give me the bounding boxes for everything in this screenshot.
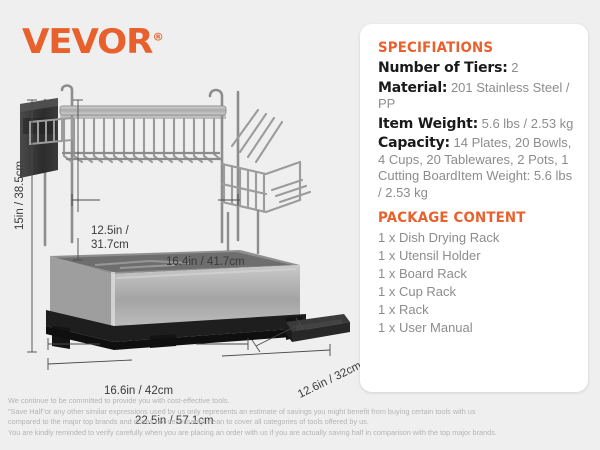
- package-item: 1 x Board Rack: [378, 265, 574, 283]
- spec-row-capacity: Capacity: 14 Plates, 20 Bowls, 4 Cups, 2…: [378, 135, 574, 201]
- package-content-heading: PACKAGE CONTENT: [378, 210, 558, 226]
- product-illustration: 15in / 38.5cm 12.5in / 31.7cm 16.4in / 4…: [0, 60, 350, 390]
- vevor-logo: VEVOR®: [22, 22, 163, 62]
- product-spec-image: VEVOR®: [0, 0, 600, 450]
- specifications-heading: SPECIFIATIONS: [378, 40, 558, 56]
- spec-value: 2: [511, 60, 518, 75]
- spec-row-material: Material: 201 Stainless Steel / PP: [378, 80, 574, 113]
- spec-value: 5.6 lbs / 2.53 kg: [482, 116, 574, 131]
- spec-row-item-weight: Item Weight: 5.6 lbs / 2.53 kg: [378, 116, 574, 133]
- brand-name: VEVOR: [22, 22, 152, 62]
- disclaimer-line: "Save Half"or any other similar expressi…: [8, 407, 592, 418]
- dish-rack-drawing: [0, 60, 350, 390]
- package-item: 1 x Dish Drying Rack: [378, 229, 574, 247]
- spec-label: Item Weight:: [378, 116, 478, 132]
- spec-label: Number of Tiers:: [378, 60, 508, 76]
- footer-disclaimer: We continue to be committed to provide y…: [8, 396, 592, 438]
- spec-label: Capacity:: [378, 135, 450, 151]
- disclaimer-line: You are kindly reminded to verify carefu…: [8, 428, 592, 439]
- dimension-label-tier-height: 12.5in / 31.7cm: [91, 224, 129, 252]
- spec-label: Material:: [378, 80, 447, 96]
- tier-height-line-1: 12.5in /: [91, 224, 129, 238]
- spec-row-number-of-tiers: Number of Tiers: 2: [378, 60, 574, 77]
- package-item: 1 x Utensil Holder: [378, 247, 574, 265]
- disclaimer-line: We continue to be committed to provide y…: [8, 396, 592, 407]
- package-item: 1 x User Manual: [378, 319, 574, 337]
- dimension-label-upper-width: 16.4in / 41.7cm: [166, 256, 245, 268]
- disclaimer-line: compared to the major top brands and dos…: [8, 417, 592, 428]
- registered-trademark-icon: ®: [152, 31, 162, 44]
- tier-height-line-2: 31.7cm: [91, 238, 129, 252]
- dimension-label-height: 15in / 38.5cm: [14, 161, 26, 230]
- package-item: 1 x Rack: [378, 301, 574, 319]
- package-item: 1 x Cup Rack: [378, 283, 574, 301]
- specifications-panel: SPECIFIATIONS Number of Tiers: 2 Materia…: [360, 24, 588, 392]
